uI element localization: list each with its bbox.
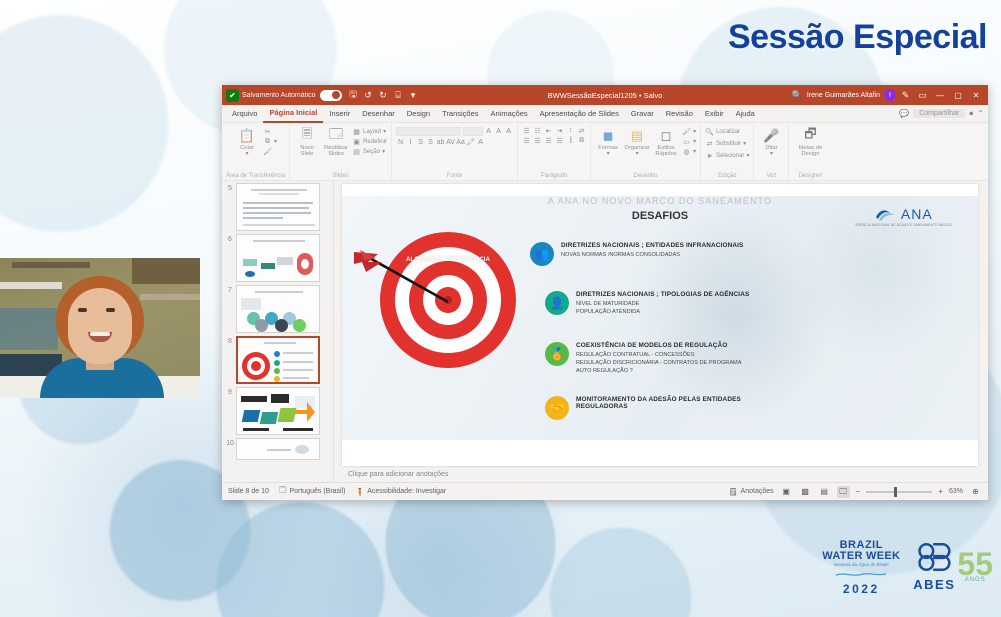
zoom-level[interactable]: 63%: [949, 488, 963, 495]
group-label-voice: Voz: [766, 173, 776, 180]
normal-view-button[interactable]: ▣: [780, 486, 793, 498]
tab-animacoes[interactable]: Animações: [485, 105, 534, 123]
ana-logo-subtitle: AGÊNCIA NACIONAL DE ÁGUAS E SANEAMENTO B…: [855, 223, 952, 227]
outline-chevron-down-icon[interactable]: ▾: [693, 138, 696, 145]
notes-label: Anotações: [741, 488, 774, 495]
justify-button[interactable]: ☰: [555, 137, 564, 145]
section-chevron-down-icon[interactable]: ▾: [382, 148, 385, 155]
arrange-chevron-down-icon[interactable]: ▾: [636, 151, 639, 157]
scissors-icon: ✂: [263, 127, 272, 136]
tab-gravar[interactable]: Gravar: [625, 105, 660, 123]
record-icon[interactable]: ⏺: [969, 109, 973, 119]
bold-button[interactable]: N: [396, 139, 405, 146]
arrange-icon: ▤: [628, 127, 646, 145]
collapse-ribbon-icon[interactable]: ⌃: [977, 109, 984, 118]
text-direction-button[interactable]: ⇄: [577, 127, 586, 135]
ribbon-tab-bar: Arquivo Página Inicial Inserir Desenhar …: [222, 105, 988, 123]
comments-icon[interactable]: ▭: [915, 88, 930, 103]
thumbnail-slide-8[interactable]: 8: [224, 336, 333, 384]
group-label-editing: Edição: [718, 173, 736, 180]
accessibility-indicator[interactable]: 🧍 Acessibilidade: Investigar: [356, 488, 447, 496]
abes-logo: ABES 55 ANOS: [913, 542, 993, 592]
text-highlight-icon[interactable]: 🖍: [466, 138, 475, 146]
slide-title[interactable]: A ANA NO NOVO MARCO DO SANEAMENTO: [342, 196, 978, 206]
strikethrough-button[interactable]: ab: [436, 139, 445, 146]
microphone-icon: 🎤: [762, 127, 780, 145]
bullet-heading: DIRETRIZES NACIONAIS ; TIPOLOGIAS DE AGÊ…: [576, 291, 749, 298]
thumbnail-number: 10: [224, 438, 236, 447]
layout-chevron-down-icon[interactable]: ▾: [383, 128, 386, 135]
thumbnail-number: 6: [224, 234, 236, 243]
format-painter-button[interactable]: 🖌: [263, 147, 277, 156]
ribbon-group-drawing: ◼ Formas ▾ ▤ Organizar ▾ ◻ Estilos Rápid…: [591, 123, 701, 180]
effects-chevron-down-icon[interactable]: ▾: [693, 148, 696, 155]
ana-wave-icon: [875, 207, 897, 221]
clipboard-icon: 📋: [238, 127, 256, 145]
quick-styles-label: Estilos Rápidos: [653, 145, 679, 158]
bullet-body: NOVAS NORMAS /NORMAS CONSOLIDADAS: [561, 251, 743, 259]
close-button[interactable]: ✕: [968, 91, 984, 100]
ribbon-group-font: A A A N I S S ab AV Aa 🖍 A Fonte: [392, 123, 518, 180]
layout-label: Layout: [363, 129, 381, 135]
bww-line2: WATER WEEK: [821, 551, 901, 562]
tab-desenhar[interactable]: Desenhar: [356, 105, 401, 123]
tab-arquivo[interactable]: Arquivo: [226, 105, 263, 123]
slide-stage: A ANA NO NOVO MARCO DO SANEAMENTO DESAFI…: [334, 181, 988, 482]
notes-placeholder[interactable]: Clique para adicionar anotações: [342, 466, 978, 482]
tab-exibir[interactable]: Exibir: [699, 105, 730, 123]
paintbrush-icon: 🖌: [263, 147, 272, 156]
webcam-person-eye: [106, 308, 115, 312]
clear-formatting-button[interactable]: A: [504, 128, 513, 135]
select-button[interactable]: ➤Selecionar▾: [705, 151, 749, 160]
thumbnail-slide-6[interactable]: 6: [224, 234, 333, 282]
abes-wordmark: ABES: [913, 577, 955, 592]
replace-button[interactable]: ⇄Substituir▾: [705, 139, 749, 148]
change-case-button[interactable]: Aa: [456, 139, 465, 146]
layout-icon: ▦: [352, 127, 361, 136]
thumbnail-image: [236, 387, 320, 435]
replace-icon: ⇄: [705, 139, 714, 148]
tab-ajuda[interactable]: Ajuda: [730, 105, 761, 123]
accessibility-label: Acessibilidade: Investigar: [367, 488, 446, 495]
slide-thumbnail-panel[interactable]: 5 6: [222, 181, 334, 482]
user-name: Irene Guimarães Altafin: [807, 92, 880, 99]
fit-to-window-icon[interactable]: ⊕: [969, 486, 982, 498]
section-icon: ▤: [352, 147, 361, 156]
reset-button[interactable]: ▣Redefinir: [352, 137, 387, 146]
columns-button[interactable]: ⫿: [566, 137, 575, 145]
thumbnail-number: 5: [224, 183, 236, 192]
increase-font-size-button[interactable]: A: [484, 128, 493, 135]
zoom-slider[interactable]: [866, 491, 932, 493]
handshake-icon: 🤝: [545, 396, 569, 420]
thumbnail-number: 7: [224, 285, 236, 294]
font-color-icon[interactable]: A: [476, 139, 485, 146]
session-title: Sessão Especial: [728, 18, 987, 57]
bullet-item-1: 👥 DIRETRIZES NACIONAIS ; ENTIDADES INFRA…: [530, 242, 743, 266]
slide-top-band: [342, 184, 978, 196]
new-slide-label: Novo Slide: [294, 145, 320, 158]
thumbnail-slide-9[interactable]: 9: [224, 387, 333, 435]
shape-fill-button[interactable]: 🖌▾: [682, 127, 696, 136]
group-label-slides: Slides: [332, 173, 348, 180]
group-label-paragraph: Parágrafo: [541, 173, 567, 180]
titlebar-right-group: 🔍 Irene Guimarães Altafin I ✎ ▭ — ▢ ✕: [790, 88, 984, 103]
autosave-toggle[interactable]: [320, 90, 342, 101]
replace-chevron-down-icon[interactable]: ▾: [743, 140, 746, 147]
ribbon-group-clipboard: 📋 Colar ▾ ✂ ⧉▾ 🖌 Área de Transferência: [222, 123, 290, 180]
people-network-icon: 👥: [530, 242, 554, 266]
zoom-in-button[interactable]: +: [938, 487, 943, 496]
restore-button[interactable]: ▢: [950, 91, 966, 100]
shapes-icon: ◼: [599, 127, 617, 145]
presentation-icon[interactable]: ⌸: [391, 88, 406, 103]
ana-wordmark: ANA: [901, 206, 933, 222]
status-bar-right: 🗒 Anotações ▣ ▩ ▤ 🖵 − + 63% ⊕: [729, 486, 982, 498]
thumbnail-slide-7[interactable]: 7: [224, 285, 333, 333]
reuse-slides-icon: 🗔: [327, 127, 345, 145]
convert-smartart-button[interactable]: ⧉: [577, 137, 586, 145]
select-label: Selecionar: [716, 153, 744, 159]
webcam-video-feed[interactable]: [0, 258, 200, 398]
tab-design[interactable]: Design: [401, 105, 436, 123]
reuse-slides-label: Reutilizar Slides: [323, 145, 349, 158]
bullet-item-4: 🤝 MONITORAMENTO DA ADESÃO PELAS ENTIDADE…: [545, 396, 776, 420]
increase-indent-button[interactable]: ⇥: [555, 127, 564, 135]
webcam-bg-shelf: [140, 294, 200, 300]
decrease-indent-button[interactable]: ⇤: [544, 127, 553, 135]
shape-effects-button[interactable]: ◍▾: [682, 147, 696, 156]
bullet-body: REGULAÇÃO CONTRATUAL - CONCESSÕES REGULA…: [576, 351, 741, 375]
autosave-label: Salvamento Automático: [242, 92, 316, 99]
bullet-body: NÍVEL DE MATURIDADE POPULAÇÃO ATENDIDA: [576, 300, 749, 316]
notes-button[interactable]: 🗒 Anotações: [729, 488, 774, 496]
slide-counter[interactable]: Slide 8 de 10: [228, 488, 269, 495]
redo-icon[interactable]: ↻: [376, 88, 391, 103]
ribbon: 📋 Colar ▾ ✂ ⧉▾ 🖌 Área de Transferência 🗏…: [222, 123, 988, 181]
reuse-slides-button[interactable]: 🗔 Reutilizar Slides: [323, 127, 349, 158]
arrow-icon: [352, 242, 482, 322]
bullet-heading: COEXISTÊNCIA DE MODELOS DE REGULAÇÃO: [576, 342, 741, 349]
cut-button[interactable]: ✂: [263, 127, 277, 136]
find-label: Localizar: [716, 129, 740, 135]
font-name-input[interactable]: [396, 127, 460, 136]
accessibility-icon: 🧍: [356, 488, 365, 496]
bww-wave-icon: [821, 572, 901, 577]
thumbnail-image: [236, 183, 320, 231]
minimize-button[interactable]: —: [932, 91, 948, 100]
thumbnail-slide-5[interactable]: 5: [224, 183, 333, 231]
align-right-button[interactable]: ☰: [544, 137, 553, 145]
align-center-button[interactable]: ☰: [533, 137, 542, 145]
language-icon: 🗔: [279, 486, 287, 497]
bulleted-list-button[interactable]: ☰: [522, 127, 531, 135]
tab-transicoes[interactable]: Transições: [436, 105, 484, 123]
effects-icon: ◍: [682, 147, 691, 156]
webcam-bg-shelf: [0, 308, 58, 350]
shadow-button[interactable]: S: [426, 139, 435, 146]
zoom-out-button[interactable]: −: [856, 487, 861, 496]
webcam-person-eye: [78, 308, 87, 312]
slide-sorter-view-button[interactable]: ▩: [799, 486, 812, 498]
webcam-person-face: [68, 288, 132, 364]
avatar[interactable]: I: [884, 89, 896, 101]
numbered-list-button[interactable]: ☷: [533, 127, 542, 135]
thumbnail-image: [236, 234, 320, 282]
line-spacing-button[interactable]: ↕: [566, 127, 575, 135]
shapes-button[interactable]: ◼ Formas ▾: [595, 127, 621, 158]
work-area: 5 6: [222, 181, 988, 482]
arrange-button[interactable]: ▤ Organizar ▾: [624, 127, 650, 158]
title-bar: ✔ Salvamento Automático 🖫 ↺ ↻ ⌸ ▾ BWWSes…: [222, 85, 988, 105]
abes-anniversary-number: 55: [957, 552, 993, 578]
new-slide-icon: 🗏: [298, 127, 316, 145]
design-ideas-button[interactable]: 🗗 Ideias de Design: [793, 127, 827, 158]
ribbon-tabs-right: 💬 Compartilhar ⏺ ⌃: [899, 109, 988, 119]
tab-inserir[interactable]: Inserir: [323, 105, 356, 123]
abes-mark-icon: [917, 542, 951, 572]
section-label: Seção: [363, 149, 380, 155]
section-button[interactable]: ▤Seção▾: [352, 147, 387, 156]
ribbon-group-voice: 🎤 Ditar ▾ Voz: [754, 123, 789, 180]
thumbnail-number: 9: [224, 387, 236, 396]
shapes-chevron-down-icon[interactable]: ▾: [607, 151, 610, 157]
bullseye-target-graphic: ALCANCE E ABRANGÊNCIA: [380, 232, 516, 368]
quick-styles-icon: ◻: [657, 127, 675, 145]
comment-icon[interactable]: 💬: [899, 109, 909, 118]
thumbnail-image: [236, 285, 320, 333]
replace-label: Substituir: [716, 141, 741, 147]
paste-chevron-down-icon[interactable]: ▾: [246, 151, 249, 157]
current-slide[interactable]: A ANA NO NOVO MARCO DO SANEAMENTO DESAFI…: [342, 184, 978, 466]
group-people-icon: 👤: [545, 291, 569, 315]
bullet-item-2: 👤 DIRETRIZES NACIONAIS ; TIPOLOGIAS DE A…: [545, 291, 749, 316]
copy-button[interactable]: ⧉▾: [263, 137, 277, 146]
decrease-font-size-button[interactable]: A: [494, 128, 503, 135]
bww-line3: Semana da Água do Brasil: [821, 563, 901, 567]
language-indicator[interactable]: 🗔 Português (Brasil): [279, 486, 346, 497]
webcam-bg-shelf: [0, 282, 62, 289]
group-label-designer: Designer: [798, 173, 822, 180]
undo-icon[interactable]: ↺: [361, 88, 376, 103]
find-button[interactable]: 🔍Localizar: [705, 127, 749, 136]
thumbnail-image: [236, 438, 320, 460]
language-label: Português (Brasil): [289, 488, 345, 495]
bullet-heading: DIRETRIZES NACIONAIS ; ENTIDADES INFRANA…: [561, 242, 743, 249]
ana-logo: ANA AGÊNCIA NACIONAL DE ÁGUAS E SANEAMEN…: [855, 206, 952, 227]
pen-icon[interactable]: ✎: [898, 88, 913, 103]
ribbon-group-editing: 🔍Localizar ⇄Substituir▾ ➤Selecionar▾ Edi…: [701, 123, 754, 180]
underline-button[interactable]: S: [416, 139, 425, 146]
share-button[interactable]: Compartilhar: [913, 109, 965, 118]
tab-apresentacao-de-slides[interactable]: Apresentação de Slides: [534, 105, 625, 123]
character-spacing-button[interactable]: AV: [446, 139, 455, 146]
ribbon-group-paragraph: ☰ ☷ ⇤ ⇥ ↕ ⇄ ☰ ☰ ☰ ☰ ⫿ ⧉ Parágrafo: [518, 123, 591, 180]
tab-pagina-inicial[interactable]: Página Inicial: [263, 105, 323, 123]
quick-styles-button[interactable]: ◻ Estilos Rápidos: [653, 127, 679, 158]
award-badge-icon: 🏅: [545, 342, 569, 366]
new-slide-button[interactable]: 🗏 Novo Slide: [294, 127, 320, 158]
dictate-chevron-down-icon[interactable]: ▾: [770, 151, 773, 157]
reading-view-button[interactable]: ▤: [818, 486, 831, 498]
webcam-bg-shelf: [12, 262, 90, 268]
copy-chevron-down-icon[interactable]: ▾: [274, 138, 277, 145]
ribbon-group-slides: 🗏 Novo Slide 🗔 Reutilizar Slides ▦Layout…: [290, 123, 392, 180]
thumbnail-image: [236, 336, 320, 384]
event-logos: BRAZIL WATER WEEK Semana da Água do Bras…: [821, 540, 993, 595]
brazil-water-week-logo: BRAZIL WATER WEEK Semana da Água do Bras…: [821, 540, 901, 595]
search-icon[interactable]: 🔍: [790, 88, 805, 103]
slide-show-view-button[interactable]: 🖵: [837, 486, 850, 498]
font-size-input[interactable]: [463, 127, 483, 136]
thumbnail-slide-10[interactable]: 10: [224, 438, 333, 460]
align-left-button[interactable]: ☰: [522, 137, 531, 145]
select-chevron-down-icon[interactable]: ▾: [746, 152, 749, 159]
notes-icon: 🗒: [729, 488, 738, 496]
design-ideas-icon: 🗗: [801, 127, 819, 145]
cursor-icon: ➤: [705, 151, 714, 160]
fill-chevron-down-icon[interactable]: ▾: [693, 128, 696, 135]
shape-outline-button[interactable]: ▭▾: [682, 137, 696, 146]
slide-bottom-band: [342, 440, 978, 466]
ribbon-group-designer: 🗗 Ideias de Design Designer: [789, 123, 831, 180]
powerpoint-window: ✔ Salvamento Automático 🖫 ↺ ↻ ⌸ ▾ BWWSes…: [222, 85, 988, 500]
webcam-bg-shelf: [132, 258, 200, 284]
outline-icon: ▭: [682, 137, 691, 146]
save-shield-icon: ✔: [226, 89, 239, 102]
copy-icon: ⧉: [263, 137, 272, 146]
bullet-heading: MONITORAMENTO DA ADESÃO PELAS ENTIDADES …: [576, 396, 776, 410]
save-icon[interactable]: 🖫: [346, 88, 361, 103]
bww-year: 2022: [821, 583, 901, 595]
reset-icon: ▣: [352, 137, 361, 146]
reset-label: Redefinir: [363, 139, 387, 145]
fill-icon: 🖌: [682, 127, 691, 136]
dictate-button[interactable]: 🎤 Ditar ▾: [758, 127, 784, 158]
layout-button[interactable]: ▦Layout▾: [352, 127, 387, 136]
design-ideas-label: Ideias de Design: [793, 145, 827, 158]
paste-button[interactable]: 📋 Colar ▾: [234, 127, 260, 158]
italic-button[interactable]: I: [406, 139, 415, 146]
thumbnail-number: 8: [224, 336, 236, 345]
status-bar: Slide 8 de 10 🗔 Português (Brasil) 🧍 Ace…: [222, 482, 988, 500]
more-commands-icon[interactable]: ▾: [406, 88, 421, 103]
group-label-clipboard: Área de Transferência: [226, 173, 285, 180]
bullet-item-3: 🏅 COEXISTÊNCIA DE MODELOS DE REGULAÇÃO R…: [545, 342, 741, 375]
group-label-drawing: Desenho: [634, 173, 658, 180]
tab-revisao[interactable]: Revisão: [660, 105, 699, 123]
group-label-font: Fonte: [447, 173, 462, 180]
search-icon: 🔍: [705, 127, 714, 136]
